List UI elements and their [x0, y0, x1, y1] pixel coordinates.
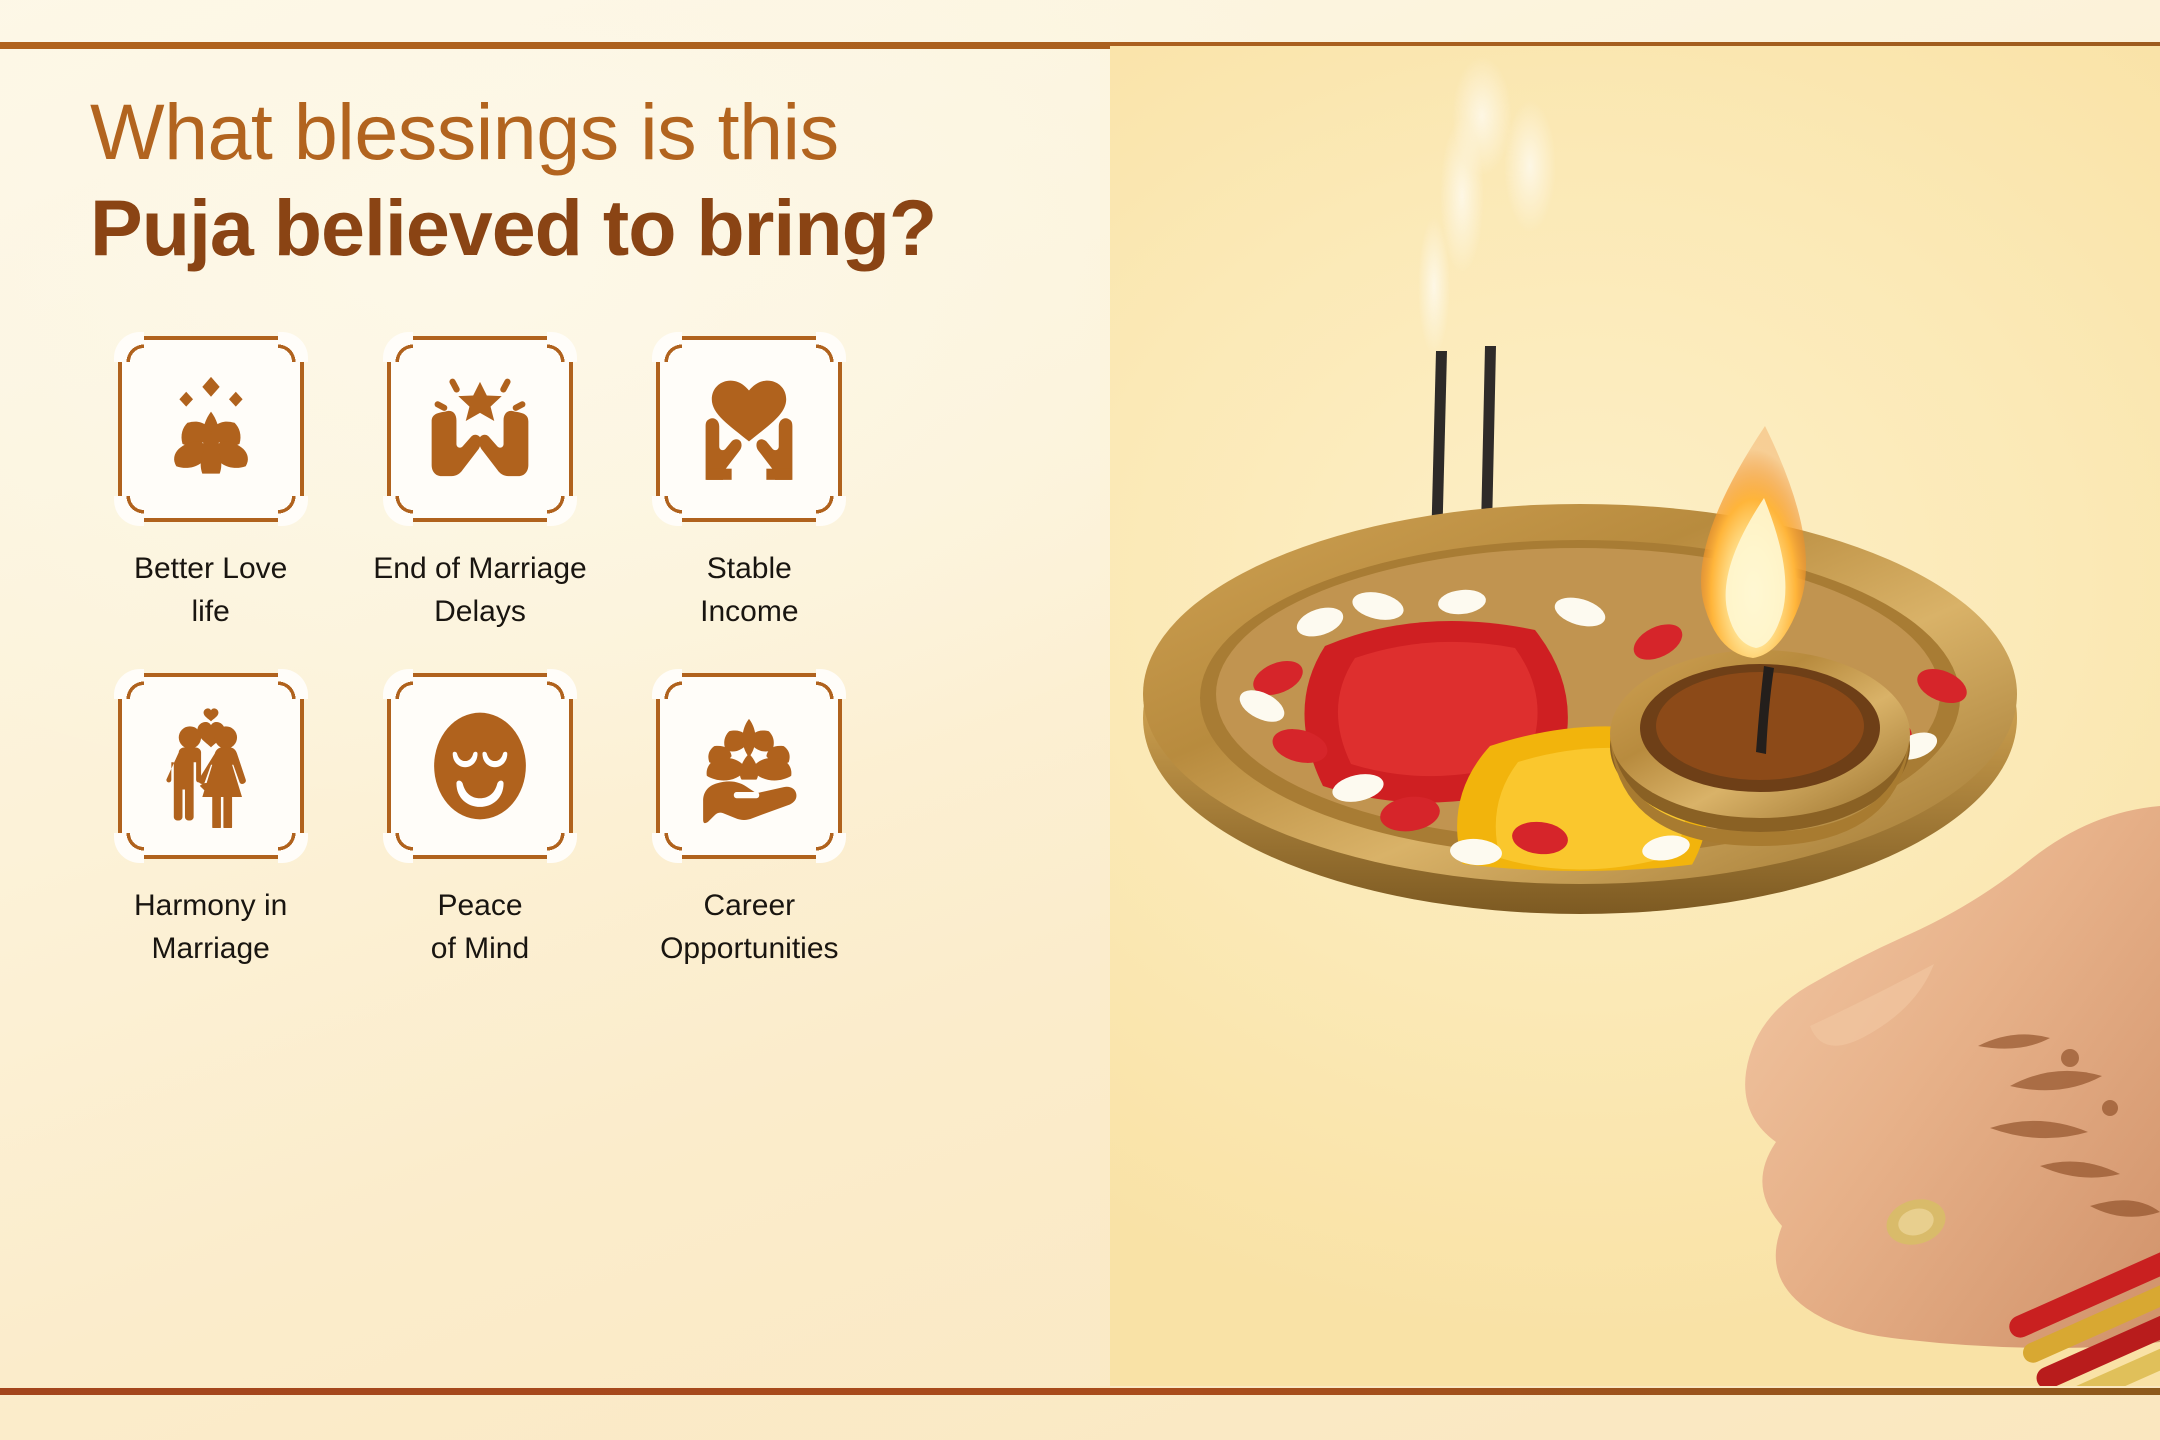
couple-love-icon	[149, 704, 273, 828]
card-notch-top-right	[278, 332, 308, 362]
bottom-divider-rule	[0, 1388, 2160, 1395]
benefit-icon-card[interactable]	[387, 336, 573, 522]
benefit-label-line-2: life	[134, 591, 287, 634]
benefit-icon-card[interactable]	[656, 336, 842, 522]
benefit-label: Career Opportunities	[660, 885, 838, 970]
hands-star-icon	[418, 367, 542, 491]
benefit-label-line-1: Stable	[700, 548, 798, 591]
card-notch-top-left	[652, 669, 682, 699]
card-notch-bottom-right	[547, 496, 577, 526]
benefit-item[interactable]: End of Marriage Delays	[354, 336, 605, 633]
puja-thali-photo	[1110, 46, 2160, 1386]
benefit-label-line-2: of Mind	[431, 928, 529, 971]
card-notch-bottom-left	[652, 833, 682, 863]
headline-line-2: Puja believed to bring?	[90, 188, 936, 267]
card-notch-top-left	[383, 669, 413, 699]
card-notch-top-left	[652, 332, 682, 362]
poster-canvas: What blessings is this Puja believed to …	[0, 0, 2160, 1440]
lotus-icon	[149, 367, 273, 491]
card-notch-top-right	[547, 332, 577, 362]
card-notch-bottom-left	[114, 496, 144, 526]
card-notch-top-right	[547, 669, 577, 699]
benefit-label-line-2: Opportunities	[660, 928, 838, 971]
card-notch-bottom-left	[652, 496, 682, 526]
benefit-item[interactable]: Stable Income	[624, 336, 875, 633]
photo-artwork	[1110, 46, 2160, 1386]
card-notch-bottom-right	[816, 833, 846, 863]
benefit-icon-card[interactable]	[656, 673, 842, 859]
card-notch-top-left	[383, 332, 413, 362]
card-notch-top-right	[278, 669, 308, 699]
headline-line-1: What blessings is this	[90, 92, 936, 171]
card-notch-top-left	[114, 669, 144, 699]
card-notch-bottom-right	[547, 833, 577, 863]
benefit-label: Better Love life	[134, 548, 287, 633]
benefit-label-line-2: Marriage	[134, 928, 287, 971]
benefit-label-line-1: Peace	[431, 885, 529, 928]
benefit-label-line-2: Income	[700, 591, 798, 634]
benefit-icon-card[interactable]	[387, 673, 573, 859]
benefit-label-line-1: End of Marriage	[373, 548, 586, 591]
benefit-label: End of Marriage Delays	[373, 548, 586, 633]
headline: What blessings is this Puja believed to …	[90, 92, 936, 267]
benefit-label-line-1: Better Love	[134, 548, 287, 591]
card-notch-bottom-right	[278, 833, 308, 863]
benefit-item[interactable]: Better Love life	[85, 336, 336, 633]
card-notch-bottom-right	[278, 496, 308, 526]
card-notch-top-right	[816, 332, 846, 362]
smiling-face-icon	[418, 704, 542, 828]
benefit-item[interactable]: Career Opportunities	[624, 673, 875, 970]
card-notch-bottom-right	[816, 496, 846, 526]
benefit-icon-card[interactable]	[118, 673, 304, 859]
benefit-item[interactable]: Harmony in Marriage	[85, 673, 336, 970]
card-notch-bottom-left	[383, 496, 413, 526]
benefit-label-line-2: Delays	[373, 591, 586, 634]
hand-lotus-icon	[687, 704, 811, 828]
benefits-grid: Better Love life	[85, 336, 875, 970]
benefit-label-line-1: Harmony in	[134, 885, 287, 928]
card-notch-bottom-left	[114, 833, 144, 863]
card-notch-bottom-left	[383, 833, 413, 863]
benefit-label-line-1: Career	[660, 885, 838, 928]
benefit-label: Harmony in Marriage	[134, 885, 287, 970]
card-notch-top-left	[114, 332, 144, 362]
benefit-item[interactable]: Peace of Mind	[354, 673, 605, 970]
benefit-label: Peace of Mind	[431, 885, 529, 970]
benefit-label: Stable Income	[700, 548, 798, 633]
benefit-icon-card[interactable]	[118, 336, 304, 522]
card-notch-top-right	[816, 669, 846, 699]
hands-heart-icon	[687, 367, 811, 491]
